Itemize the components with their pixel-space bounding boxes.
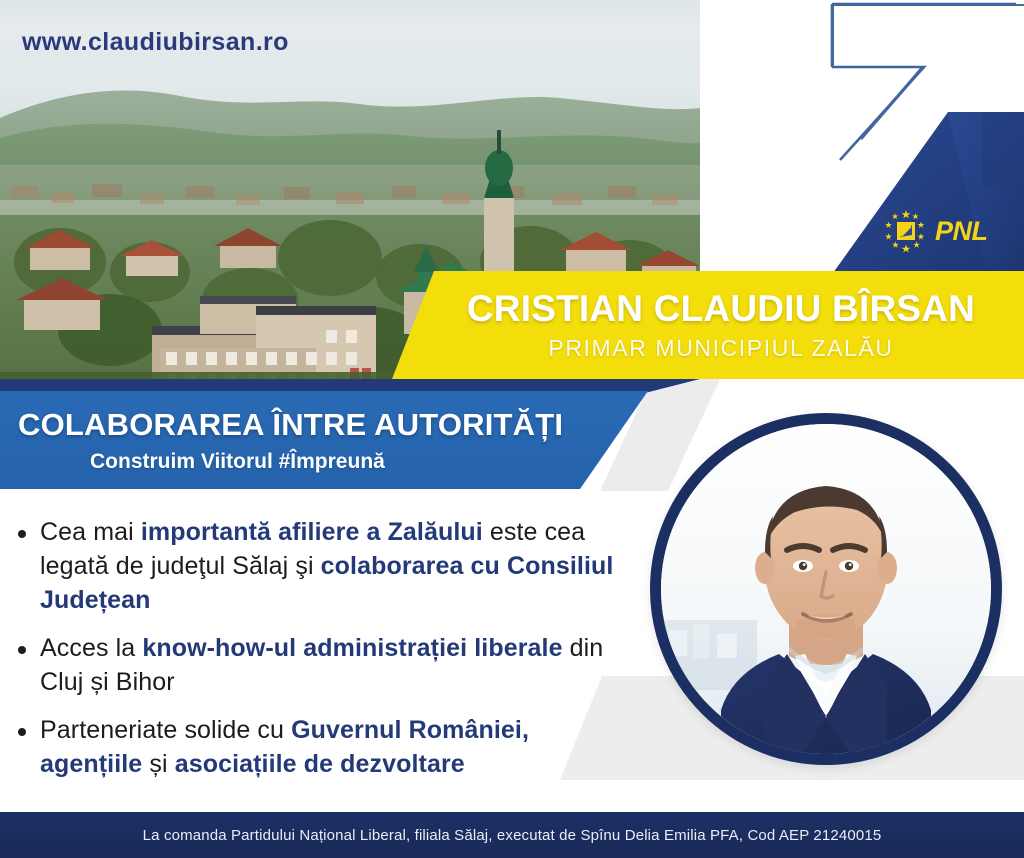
text-run: Parteneriate solide cu [40, 716, 291, 744]
bullet-dot-icon [18, 728, 26, 736]
pnl-wordmark: PNL [935, 216, 988, 247]
text-run: asociațiile de dezvoltare [175, 750, 465, 778]
bullet-affiliation: Cea mai importantă afiliere a Zalăului e… [40, 515, 618, 617]
headline-banner: COLABORAREA ÎNTRE AUTORITĂȚI Construim V… [0, 379, 700, 489]
headline-banner-body: COLABORAREA ÎNTRE AUTORITĂȚI Construim V… [0, 391, 700, 489]
list-item: Cea mai importantă afiliere a Zalăului e… [18, 515, 618, 617]
headline-title: COLABORAREA ÎNTRE AUTORITĂȚI [18, 407, 700, 443]
candidate-name: CRISTIAN CLAUDIU BÎRSAN [467, 288, 975, 330]
footer-bar: La comanda Partidului Național Liberal, … [0, 812, 1024, 858]
text-run: Cea mai [40, 518, 141, 546]
campaign-poster: PNL www.claudiubirsan.ro CRISTIAN CLAUDI… [0, 0, 1024, 858]
headline-slogan: Construim Viitorul #Împreună [18, 450, 700, 474]
candidate-role: PRIMAR MUNICIPIUL ZALĂU [548, 335, 893, 362]
candidate-name-banner: CRISTIAN CLAUDIU BÎRSAN PRIMAR MUNICIPIU… [392, 271, 1024, 379]
bullet-dot-icon [18, 530, 26, 538]
list-item: Parteneriate solide cu Guvernul României… [18, 713, 618, 781]
pnl-stars-arrow-emblem [884, 209, 928, 253]
pnl-logo: PNL [884, 209, 988, 253]
bullet-knowhow: Acces la know-how-ul administrației libe… [40, 631, 618, 699]
text-run: Acces la [40, 634, 142, 662]
list-item: Acces la know-how-ul administrației libe… [18, 631, 618, 699]
bullet-partnerships: Parteneriate solide cu Guvernul României… [40, 713, 618, 781]
bullet-dot-icon [18, 646, 26, 654]
text-run: know-how-ul administrației liberale [142, 634, 562, 662]
website-url[interactable]: www.claudiubirsan.ro [22, 28, 289, 57]
text-run: și [142, 750, 174, 778]
candidate-portrait [650, 413, 1002, 765]
promise-list: Cea mai importantă afiliere a Zalăului e… [18, 515, 618, 795]
headline-banner-top-strip [0, 379, 700, 393]
text-run: importantă afiliere a Zalăului [141, 518, 483, 546]
footer-disclaimer: La comanda Partidului Național Liberal, … [143, 827, 882, 844]
